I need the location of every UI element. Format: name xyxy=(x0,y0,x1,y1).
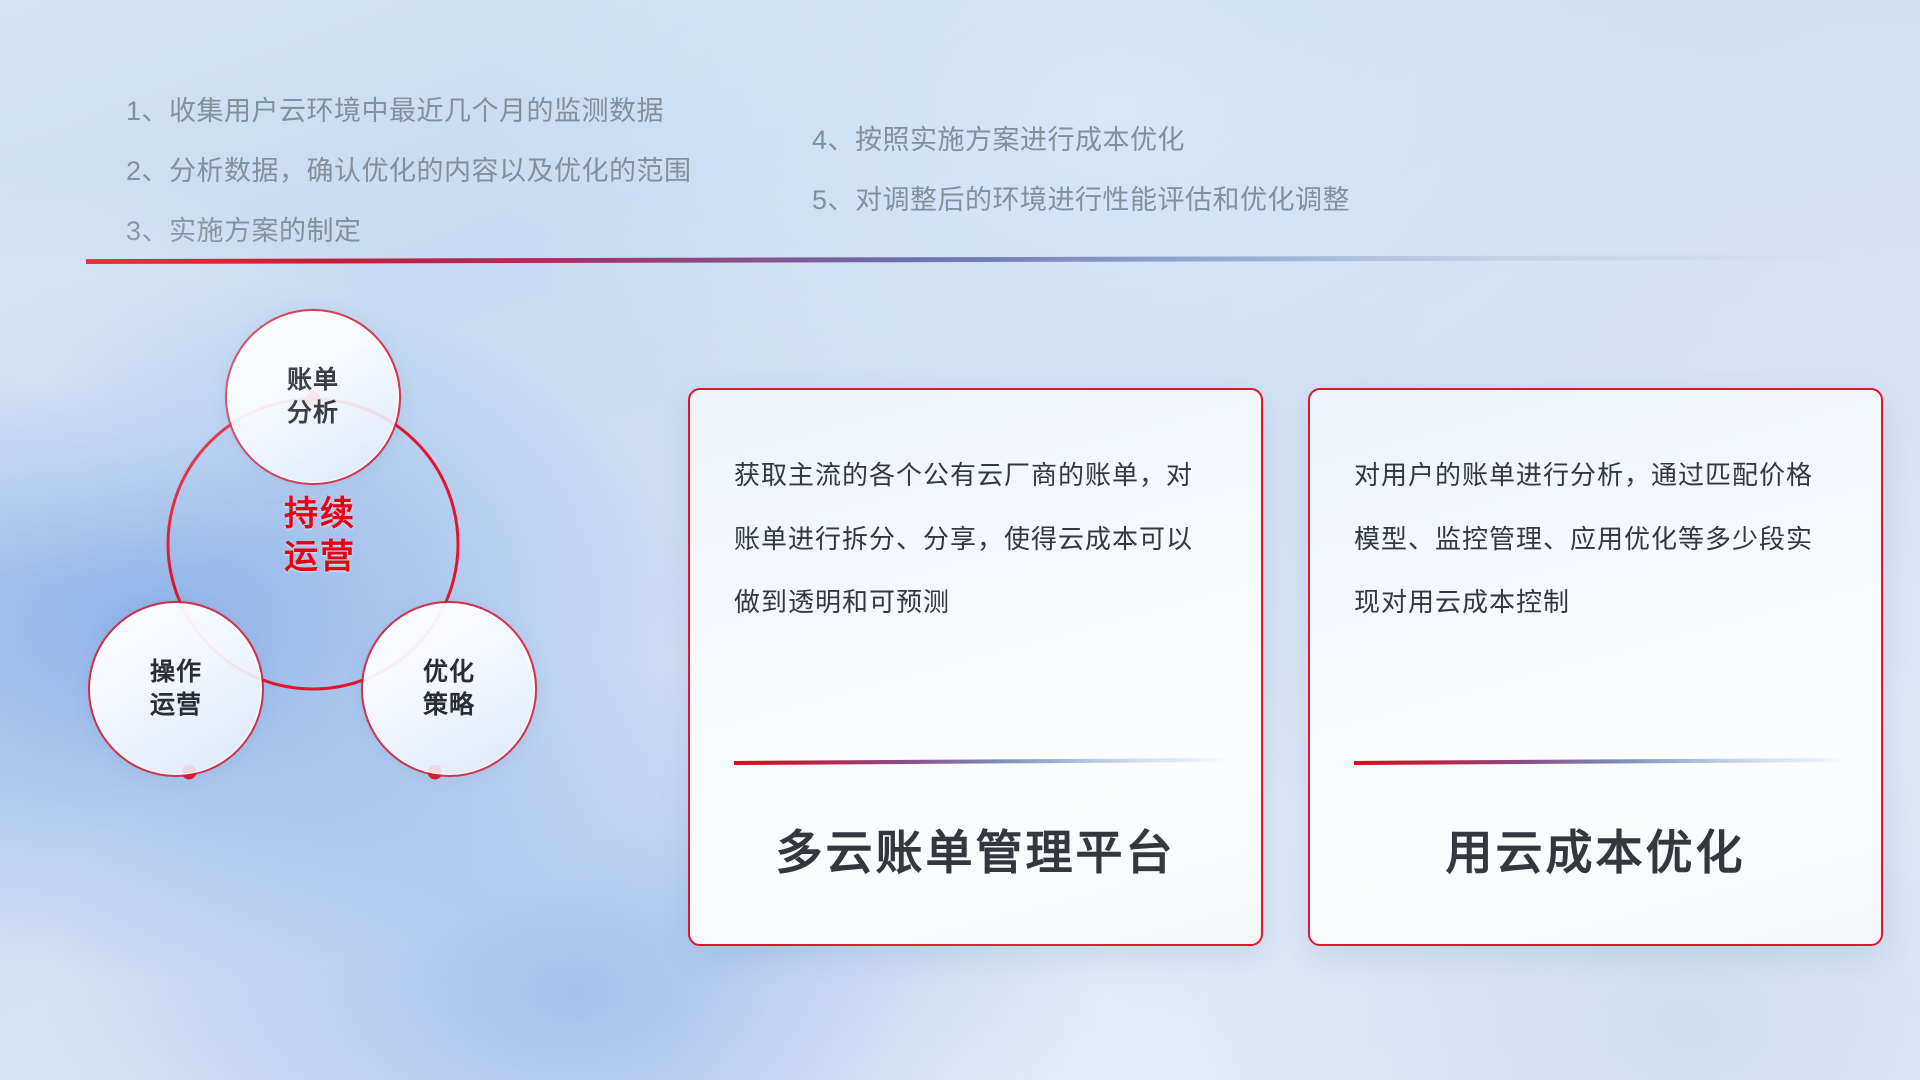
bubble-optimization-strategy[interactable]: 优化策略 xyxy=(363,603,535,775)
diagram-center-label: 持续 运营 xyxy=(85,493,555,578)
bubble-optimization-strategy-label: 优化策略 xyxy=(423,656,475,722)
process-step-1: 1、收集用户云环境中最近几个月的监测数据 xyxy=(126,98,692,125)
bubble-operation-label: 操作运营 xyxy=(150,656,202,722)
center-label-line1: 持续 xyxy=(85,493,555,536)
process-step-2: 2、分析数据，确认优化的内容以及优化的范围 xyxy=(126,158,692,185)
card-2-divider xyxy=(1354,758,1847,765)
continuous-operation-diagram: 账单分析 操作运营 优化策略 持续 运营 xyxy=(85,295,555,775)
bubble-bill-analysis-label: 账单分析 xyxy=(287,364,339,430)
card-multicloud-billing-platform[interactable]: 获取主流的各个公有云厂商的账单，对账单进行拆分、分享，使得云成本可以做到透明和可… xyxy=(688,388,1263,946)
process-step-4: 4、按照实施方案进行成本优化 xyxy=(812,127,1350,154)
card-1-body: 获取主流的各个公有云厂商的账单，对账单进行拆分、分享，使得云成本可以做到透明和可… xyxy=(734,444,1217,635)
process-steps-left: 1、收集用户云环境中最近几个月的监测数据 2、分析数据，确认优化的内容以及优化的… xyxy=(126,98,692,278)
card-cloud-cost-optimization[interactable]: 对用户的账单进行分析，通过匹配价格模型、监控管理、应用优化等多少段实现对用云成本… xyxy=(1308,388,1883,946)
card-2-title: 用云成本优化 xyxy=(1310,814,1881,883)
bubble-bill-analysis[interactable]: 账单分析 xyxy=(227,311,399,483)
process-steps-right: 4、按照实施方案进行成本优化 5、对调整后的环境进行性能评估和优化调整 xyxy=(812,127,1350,247)
center-label-line2: 运营 xyxy=(85,536,555,579)
process-step-5: 5、对调整后的环境进行性能评估和优化调整 xyxy=(812,187,1350,214)
card-1-divider xyxy=(734,758,1227,765)
card-2-body: 对用户的账单进行分析，通过匹配价格模型、监控管理、应用优化等多少段实现对用云成本… xyxy=(1354,444,1837,635)
bubble-operation[interactable]: 操作运营 xyxy=(90,603,262,775)
slide-canvas: 1、收集用户云环境中最近几个月的监测数据 2、分析数据，确认优化的内容以及优化的… xyxy=(0,0,1920,1080)
process-step-3: 3、实施方案的制定 xyxy=(126,218,692,245)
card-1-title: 多云账单管理平台 xyxy=(690,814,1261,883)
